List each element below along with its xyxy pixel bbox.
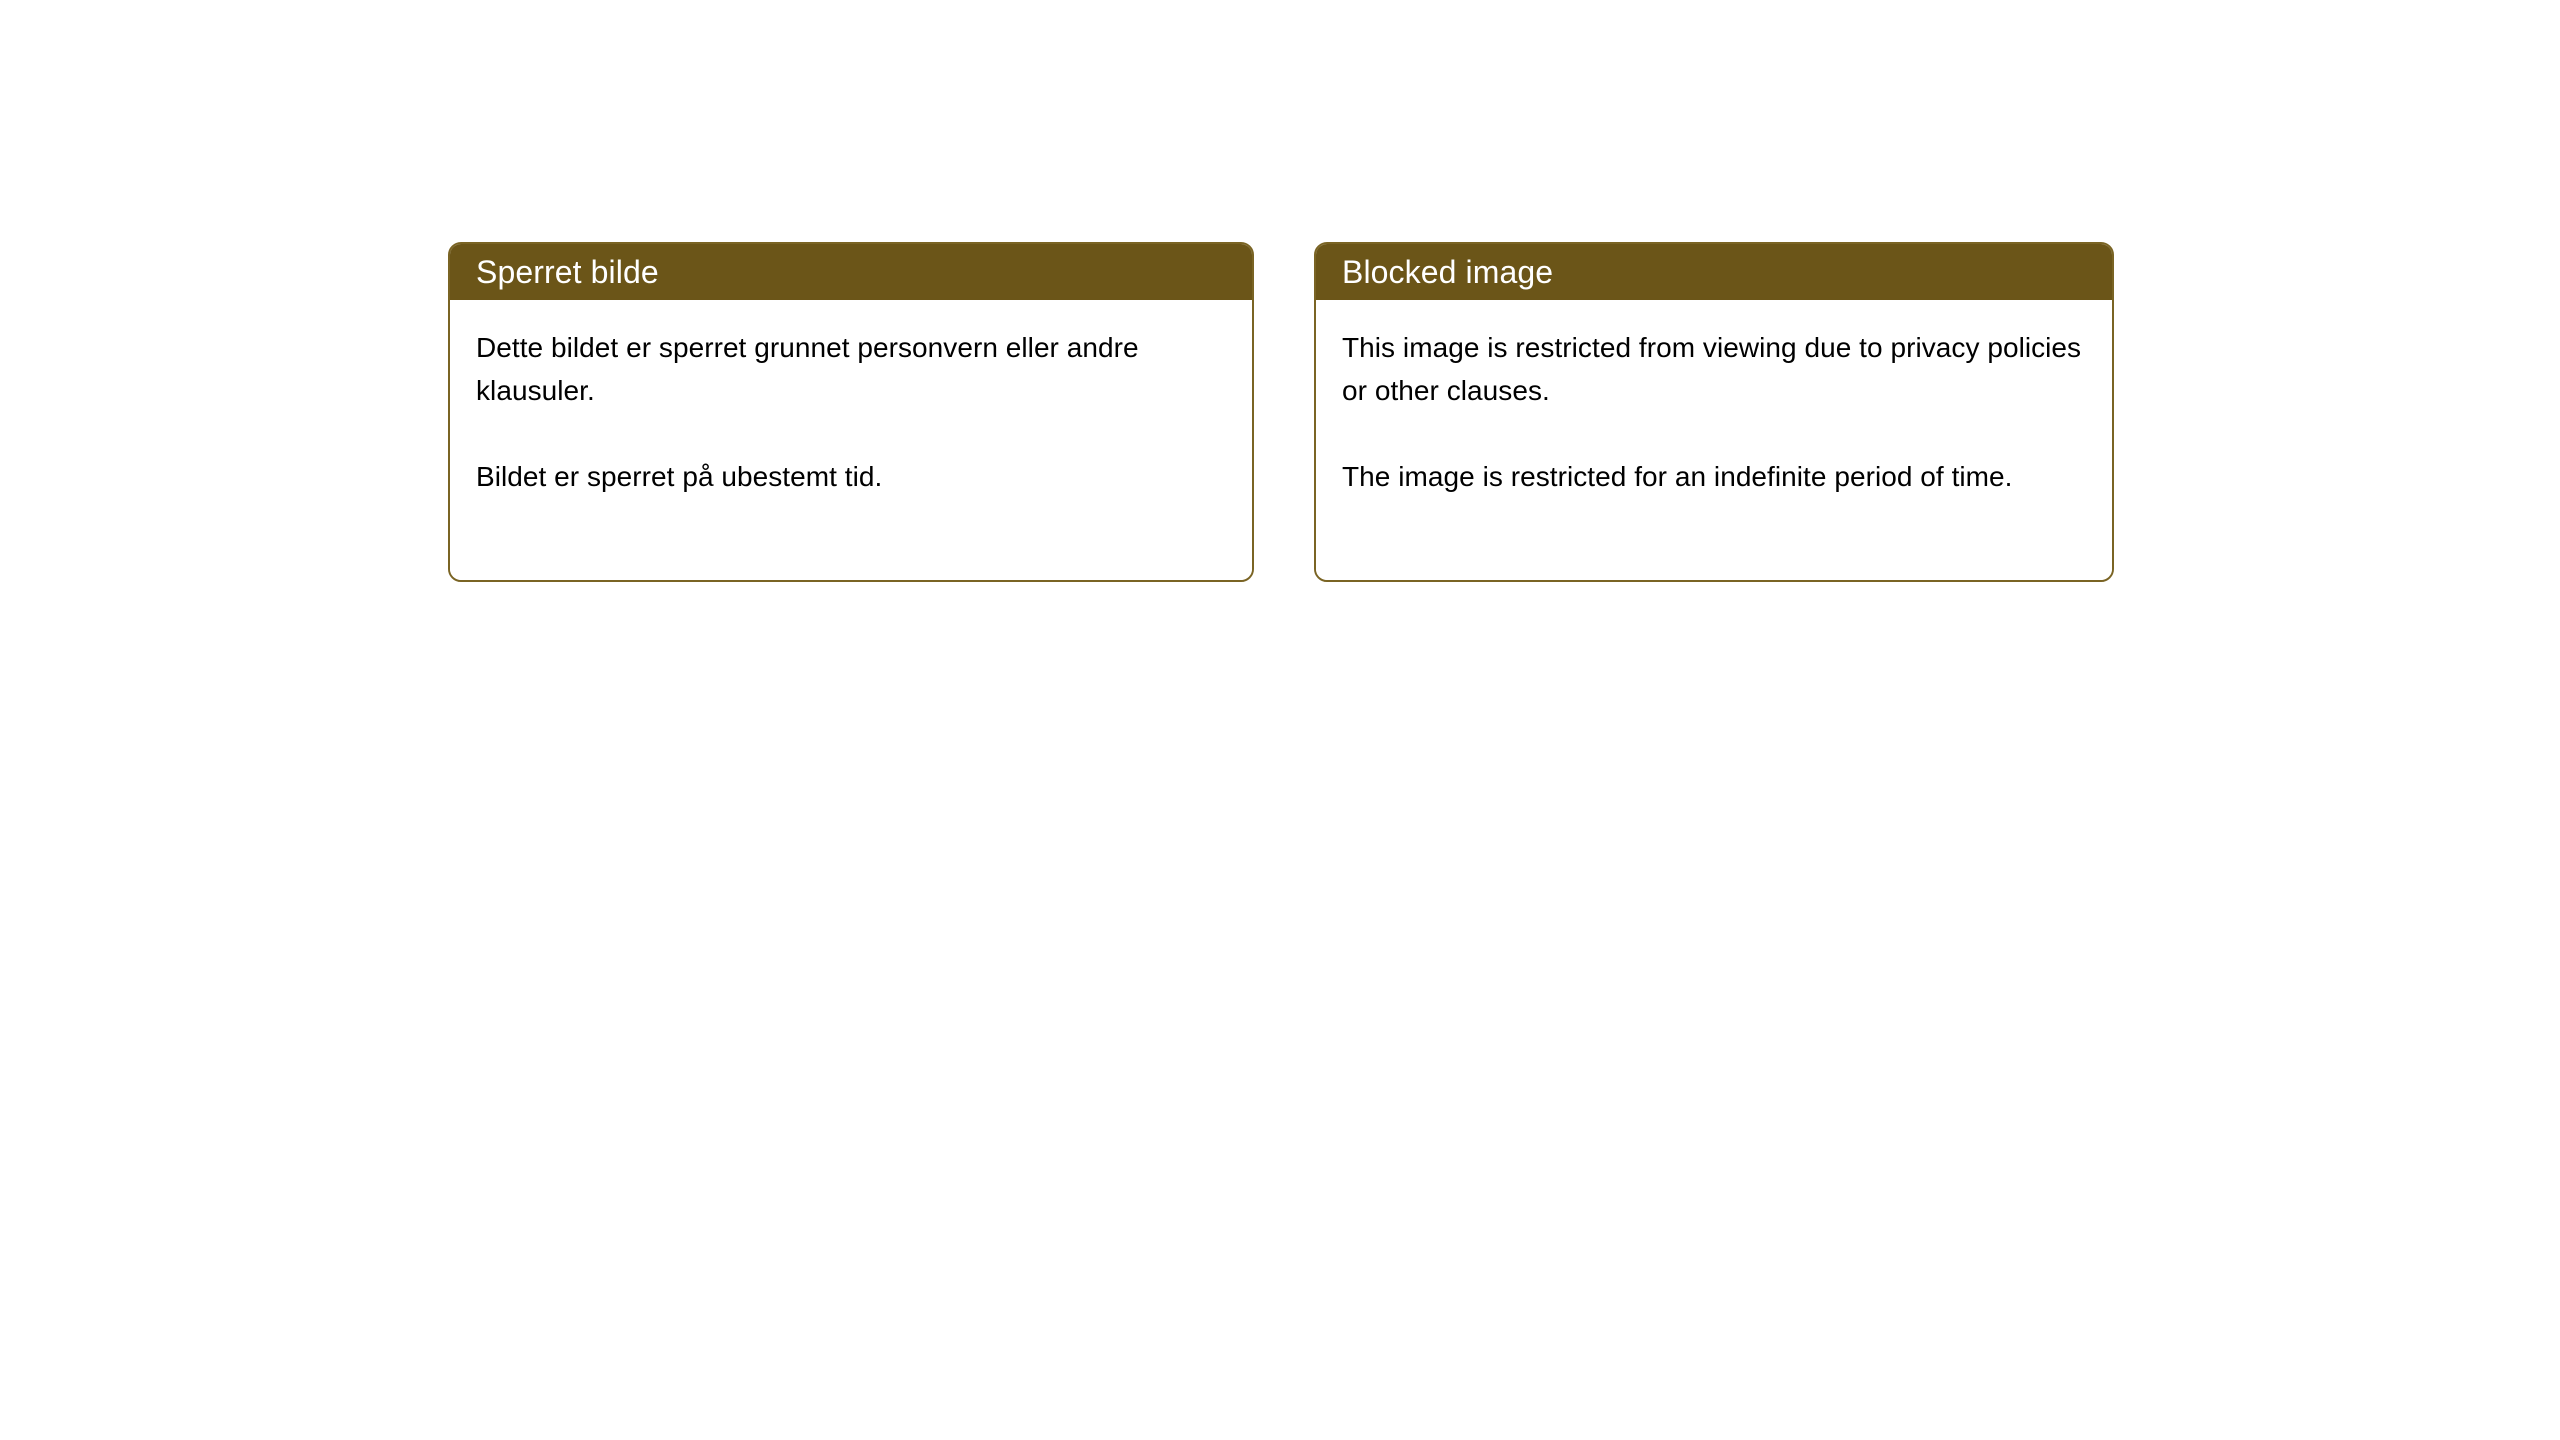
card-title-english: Blocked image xyxy=(1342,254,1553,290)
paragraph-spacer xyxy=(1342,412,2086,455)
card-body-norwegian: Dette bildet er sperret grunnet personve… xyxy=(450,300,1252,580)
page-canvas: Sperret bilde Dette bildet er sperret gr… xyxy=(0,0,2560,1440)
card-paragraph-primary-english: This image is restricted from viewing du… xyxy=(1342,326,2086,412)
card-paragraph-primary-norwegian: Dette bildet er sperret grunnet personve… xyxy=(476,326,1226,412)
card-title-norwegian: Sperret bilde xyxy=(476,254,659,290)
blocked-image-notice-card-english: Blocked image This image is restricted f… xyxy=(1314,242,2114,582)
notice-card-row: Sperret bilde Dette bildet er sperret gr… xyxy=(448,242,2114,582)
card-paragraph-secondary-norwegian: Bildet er sperret på ubestemt tid. xyxy=(476,455,1226,498)
card-header-norwegian: Sperret bilde xyxy=(450,244,1252,300)
card-paragraph-secondary-english: The image is restricted for an indefinit… xyxy=(1342,455,2086,498)
paragraph-spacer xyxy=(476,412,1226,455)
blocked-image-notice-card-norwegian: Sperret bilde Dette bildet er sperret gr… xyxy=(448,242,1254,582)
card-header-english: Blocked image xyxy=(1316,244,2112,300)
card-body-english: This image is restricted from viewing du… xyxy=(1316,300,2112,580)
